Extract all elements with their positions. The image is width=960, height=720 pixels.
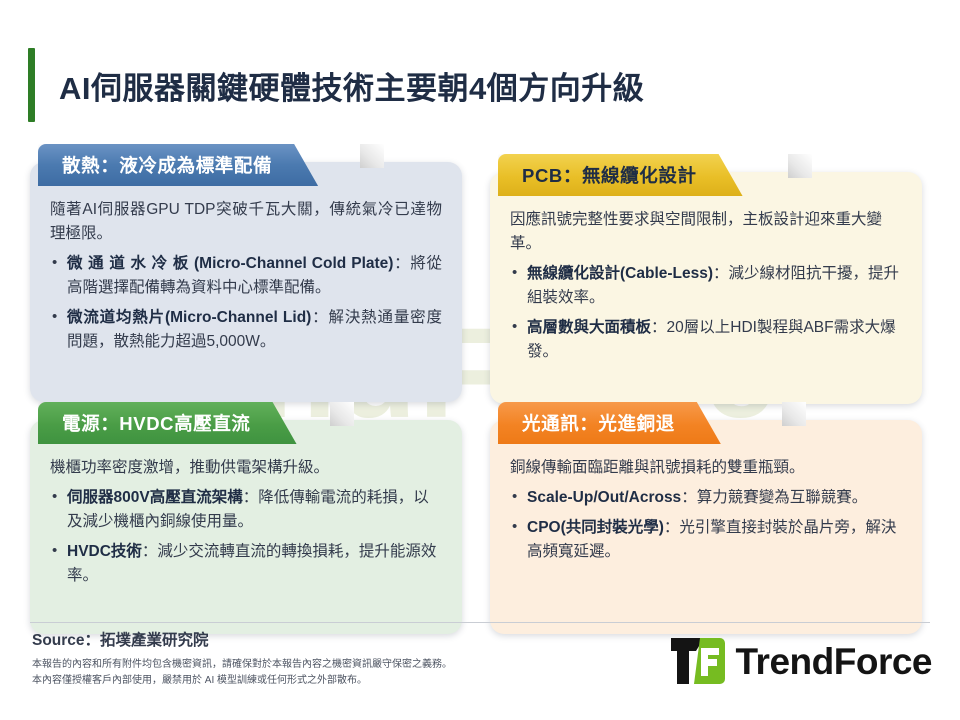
card-intro: 銅線傳輸面臨距離與訊號損耗的雙重瓶頸。: [510, 456, 902, 480]
card-body: 機櫃功率密度激增，推動供電架構升級。 伺服器800V高壓直流架構：降低傳輸電流的…: [30, 420, 462, 608]
fold-corner-icon: [360, 144, 384, 168]
card-points: 微 通 道 水 冷 板 (Micro-Channel Cold Plate)：將…: [50, 252, 442, 354]
page-title: AI伺服器關鍵硬體技術主要朝4個方向升級: [59, 63, 644, 108]
point-term: 微 通 道 水 冷 板 (Micro-Channel Cold Plate): [67, 255, 393, 272]
fold-corner-icon: [330, 402, 354, 426]
page-title-row: AI伺服器關鍵硬體技術主要朝4個方向升級: [28, 48, 644, 122]
point-term: 微流道均熱片(Micro-Channel Lid): [67, 309, 311, 326]
trendforce-logo: TrendForce: [670, 634, 933, 688]
card-intro: 因應訊號完整性要求與空間限制，主板設計迎來重大變革。: [510, 208, 902, 256]
card-points: 無線纜化設計(Cable-Less)：減少線材阻抗干擾，提升組裝效率。 高層數與…: [510, 262, 902, 364]
card-tab-cooling[interactable]: 散熱：液冷成為標準配備: [38, 144, 318, 186]
point-term: 高層數與大面積板: [527, 319, 651, 336]
point-term: Scale-Up/Out/Across: [527, 489, 681, 506]
list-item: Scale-Up/Out/Across：算力競賽變為互聯競賽。: [510, 486, 902, 510]
card-tab-label: 光通訊：光進銅退: [522, 410, 675, 436]
card-points: 伺服器800V高壓直流架構：降低傳輸電流的耗損，以及減少機櫃內銅線使用量。 HV…: [50, 486, 442, 588]
list-item: HVDC技術：減少交流轉直流的轉換損耗，提升能源效率。: [50, 540, 442, 588]
disclaimer-line-1: 本報告的內容和所有附件均包含機密資訊，請確保對於本報告內容之機密資訊嚴守保密之義…: [32, 657, 452, 673]
card-tab-optical[interactable]: 光通訊：光進銅退: [498, 402, 721, 444]
card-tab-power[interactable]: 電源：HVDC高壓直流: [38, 402, 297, 444]
card-intro: 機櫃功率密度激增，推動供電架構升級。: [50, 456, 442, 480]
point-term: HVDC技術: [67, 543, 142, 560]
point-desc: ：算力競賽變為互聯競賽。: [681, 489, 867, 506]
source-label: Source：拓墣產業研究院: [32, 628, 209, 650]
point-term: 無線纜化設計(Cable-Less): [527, 265, 713, 282]
list-item: 高層數與大面積板：20層以上HDI製程與ABF需求大爆發。: [510, 316, 902, 364]
card-tab-label: 散熱：液冷成為標準配備: [62, 152, 272, 178]
trendforce-logo-mark-icon: [670, 634, 726, 688]
disclaimer-line-2: 本內容僅授權客戶內部使用，嚴禁用於 AI 模型訓練或任何形式之外部散布。: [32, 673, 452, 689]
fold-corner-icon: [788, 154, 812, 178]
list-item: 微 通 道 水 冷 板 (Micro-Channel Cold Plate)：將…: [50, 252, 442, 300]
card-points: Scale-Up/Out/Across：算力競賽變為互聯競賽。 CPO(共同封裝…: [510, 486, 902, 564]
point-term: CPO(共同封裝光學): [527, 519, 664, 536]
card-power: 電源：HVDC高壓直流 機櫃功率密度激增，推動供電架構升級。 伺服器800V高壓…: [30, 420, 462, 634]
card-body: 因應訊號完整性要求與空間限制，主板設計迎來重大變革。 無線纜化設計(Cable-…: [490, 172, 922, 384]
list-item: 微流道均熱片(Micro-Channel Lid)：解決熱通量密度問題，散熱能力…: [50, 306, 442, 354]
card-tab-pcb[interactable]: PCB：無線纜化設計: [498, 154, 743, 196]
fold-corner-icon: [782, 402, 806, 426]
footer-divider: [30, 622, 930, 623]
title-accent-bar: [28, 48, 35, 122]
list-item: 無線纜化設計(Cable-Less)：減少線材阻抗干擾，提升組裝效率。: [510, 262, 902, 310]
card-pcb: PCB：無線纜化設計 因應訊號完整性要求與空間限制，主板設計迎來重大變革。 無線…: [490, 172, 922, 404]
disclaimer: 本報告的內容和所有附件均包含機密資訊，請確保對於本報告內容之機密資訊嚴守保密之義…: [32, 657, 452, 688]
trendforce-logo-text: TrendForce: [736, 643, 933, 680]
card-body: 隨著AI伺服器GPU TDP突破千瓦大關，傳統氣冷已達物理極限。 微 通 道 水…: [30, 162, 462, 374]
card-cooling: 散熱：液冷成為標準配備 隨著AI伺服器GPU TDP突破千瓦大關，傳統氣冷已達物…: [30, 162, 462, 402]
card-tab-label: 電源：HVDC高壓直流: [62, 410, 251, 436]
card-tab-label: PCB：無線纜化設計: [522, 162, 697, 188]
card-body: 銅線傳輸面臨距離與訊號損耗的雙重瓶頸。 Scale-Up/Out/Across：…: [490, 420, 922, 584]
list-item: 伺服器800V高壓直流架構：降低傳輸電流的耗損，以及減少機櫃內銅線使用量。: [50, 486, 442, 534]
card-intro: 隨著AI伺服器GPU TDP突破千瓦大關，傳統氣冷已達物理極限。: [50, 198, 442, 246]
point-term: 伺服器800V高壓直流架構: [67, 489, 243, 506]
list-item: CPO(共同封裝光學)：光引擎直接封裝於晶片旁，解決高頻寬延遲。: [510, 516, 902, 564]
card-optical: 光通訊：光進銅退 銅線傳輸面臨距離與訊號損耗的雙重瓶頸。 Scale-Up/Ou…: [490, 420, 922, 634]
